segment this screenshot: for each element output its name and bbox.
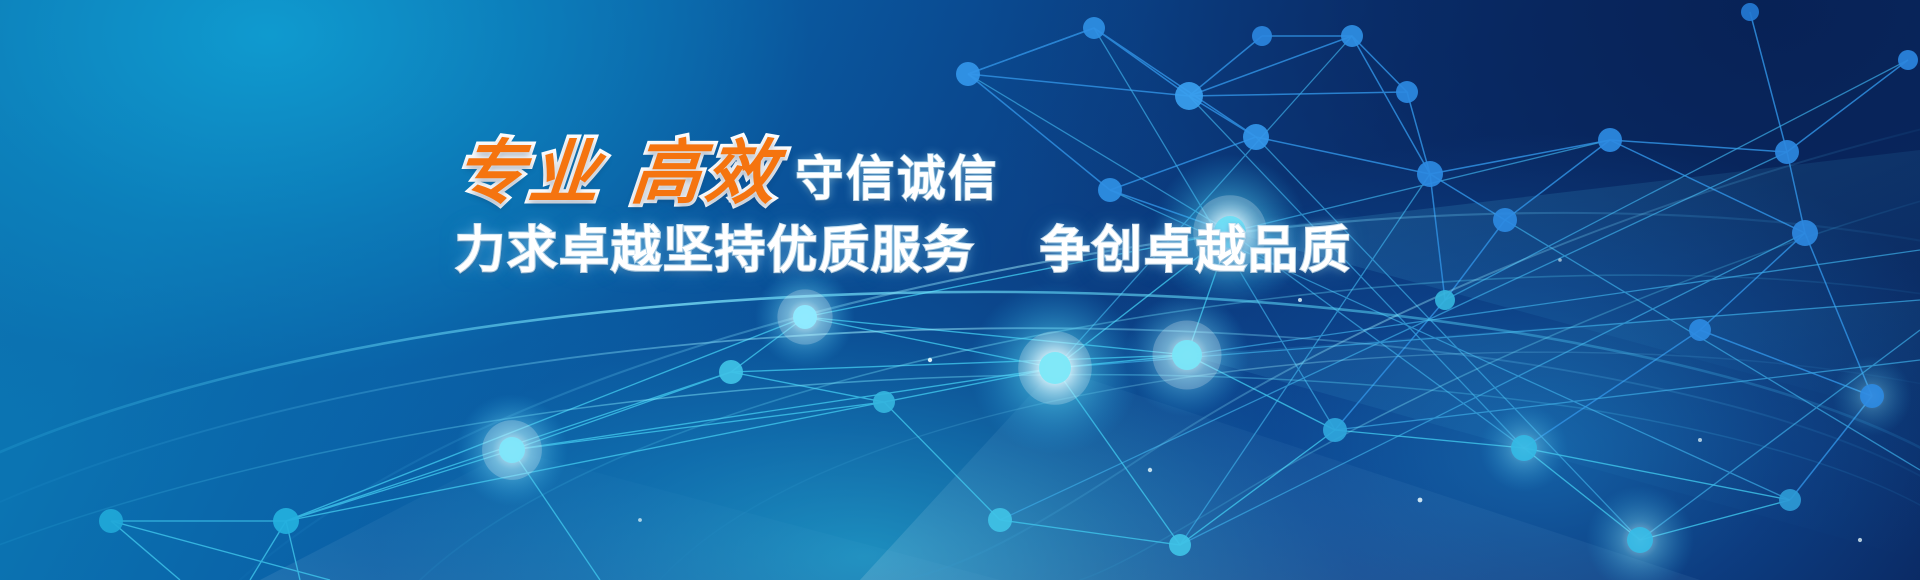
network-node <box>1779 489 1801 511</box>
network-node <box>873 391 895 413</box>
network-node <box>988 508 1012 532</box>
network-node <box>1860 384 1884 408</box>
hero-banner: 专业 高效 守信诚信 力求卓越坚持优质服务 争创卓越品质 <box>0 0 1920 580</box>
network-node <box>1417 161 1443 187</box>
network-node <box>1396 81 1418 103</box>
slogan-secondary: 守信诚信 <box>795 155 999 208</box>
slogan-line2-right: 争创卓越品质 <box>1040 221 1352 279</box>
network-node <box>99 509 123 533</box>
network-node <box>1598 128 1622 152</box>
network-node <box>1511 435 1537 461</box>
headline-block: 专业 高效 守信诚信 力求卓越坚持优质服务 争创卓越品质 <box>455 126 1215 277</box>
network-node <box>1898 50 1918 70</box>
network-node <box>1323 418 1347 442</box>
network-node <box>1341 25 1363 47</box>
network-node <box>1169 534 1191 556</box>
network-node <box>499 437 525 463</box>
network-node <box>1741 3 1759 21</box>
network-node <box>1175 82 1203 110</box>
slogan-line2-left: 力求卓越坚持优质服务 <box>455 221 975 279</box>
network-node <box>1435 290 1455 310</box>
headline-line-1: 专业 高效 守信诚信 <box>455 126 1215 208</box>
network-node <box>1792 220 1818 246</box>
network-node <box>1252 26 1272 46</box>
network-node <box>1627 527 1653 553</box>
network-node <box>1172 340 1202 370</box>
network-node <box>719 360 743 384</box>
network-node <box>793 305 817 329</box>
network-node <box>1243 124 1269 150</box>
network-node <box>1775 140 1799 164</box>
network-node <box>273 508 299 534</box>
network-node <box>956 62 980 86</box>
network-node <box>1689 319 1711 341</box>
network-node <box>1493 208 1517 232</box>
network-node <box>1039 352 1071 384</box>
slogan-emphasis: 专业 高效 <box>452 138 782 208</box>
network-node <box>1083 17 1105 39</box>
headline-line-2: 力求卓越坚持优质服务 争创卓越品质 <box>455 224 1215 277</box>
network-mesh-graphic <box>0 0 1920 580</box>
